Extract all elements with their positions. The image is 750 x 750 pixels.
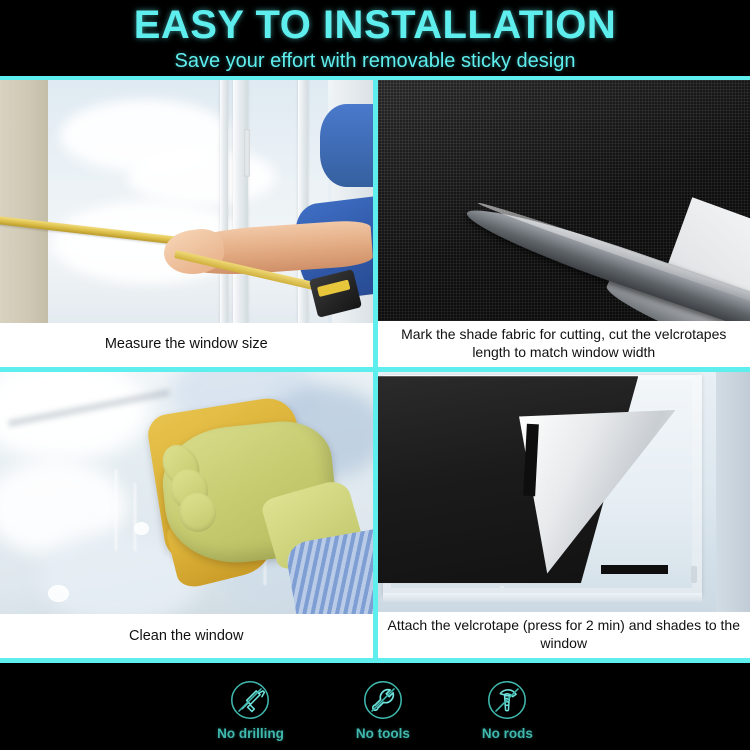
step-panel-4: Attach the velcrotape (press for 2 min) … (378, 372, 750, 659)
step-1-caption: Measure the window size (0, 323, 373, 367)
velcro-strip-horizontal (601, 565, 668, 574)
feature-no-drilling: No drilling (217, 677, 284, 741)
step-2-caption: Mark the shade fabric for cutting, cut t… (378, 321, 750, 367)
wrench-icon (360, 677, 406, 723)
window-mullion (233, 80, 249, 323)
step-2-photo (378, 80, 750, 321)
step-3-caption: Clean the window (0, 614, 373, 658)
soap-bubble (134, 522, 149, 535)
step-4-photo (378, 372, 750, 613)
window-sill (383, 593, 702, 603)
header-title: EASY TO INSTALLATION (134, 5, 617, 45)
window-latch (691, 566, 697, 583)
wall-right (716, 372, 750, 613)
step-4-caption: Attach the velcrotape (press for 2 min) … (378, 612, 750, 658)
product-infographic: EASY TO INSTALLATION Save your effort wi… (0, 0, 750, 750)
header-subtitle: Save your effort with removable sticky d… (175, 51, 576, 71)
window-handle (244, 129, 250, 178)
step-1-photo (0, 80, 373, 323)
feature-label: No tools (356, 727, 410, 741)
installation-steps-grid: Measure the window size Mark the shade f… (0, 80, 750, 663)
feature-no-tools: No tools (356, 677, 410, 741)
water-streak (134, 483, 136, 551)
water-streak (115, 469, 117, 551)
header-banner: EASY TO INSTALLATION Save your effort wi… (0, 0, 750, 80)
wall-left (0, 80, 48, 323)
step-panel-3: Clean the window (0, 372, 373, 659)
window-mullion (220, 80, 228, 323)
cloud-shape (127, 148, 276, 206)
person-shoulder (320, 104, 372, 186)
feature-label: No drilling (217, 727, 284, 741)
drill-icon (227, 677, 273, 723)
step-panel-1: Measure the window size (0, 80, 373, 367)
hammer-icon (484, 677, 530, 723)
step-3-photo (0, 372, 373, 615)
feature-label: No rods (482, 727, 533, 741)
feature-no-rods: No rods (482, 677, 533, 741)
step-panel-2: Mark the shade fabric for cutting, cut t… (378, 80, 750, 367)
soap-bubble (48, 585, 68, 602)
feature-bar: No drilling No tools (0, 663, 750, 750)
